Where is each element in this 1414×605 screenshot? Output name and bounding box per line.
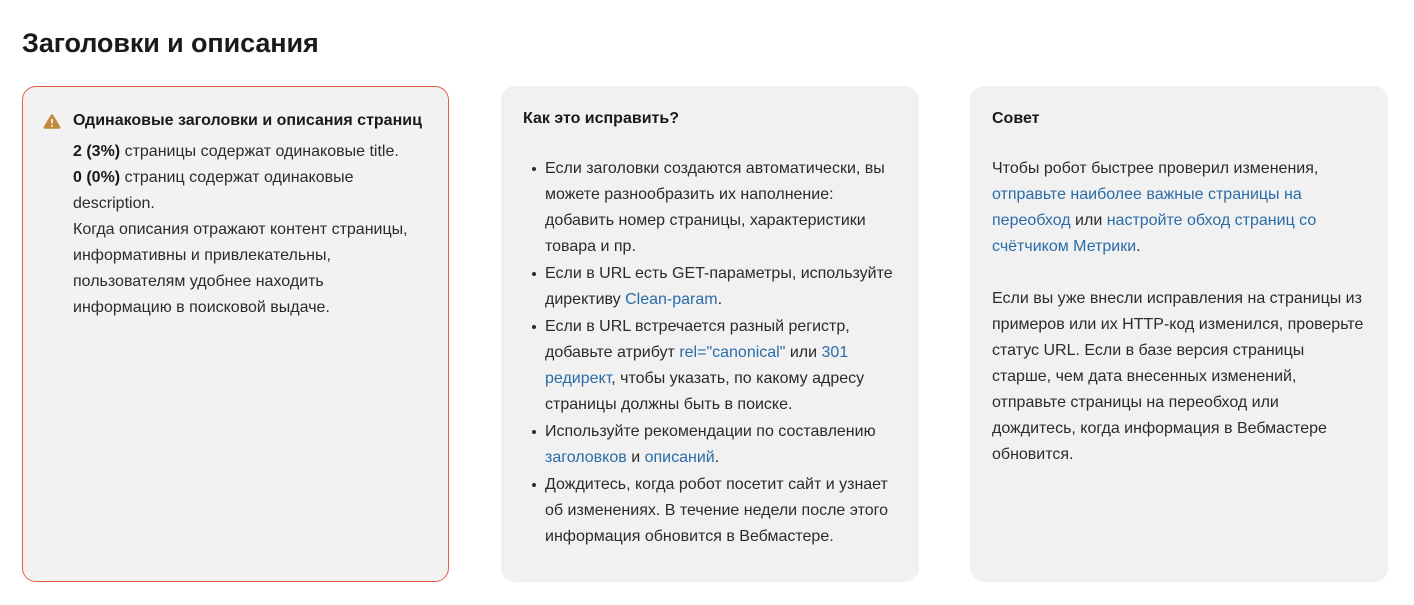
page-root: Заголовки и описания Одинаковые заголовк…	[0, 0, 1414, 605]
tip-paragraph: Если вы уже внесли исправления на страни…	[992, 286, 1364, 468]
inline-text: и	[627, 449, 645, 466]
problem-note: Когда описания отражают контент страницы…	[73, 217, 424, 321]
inline-text: Если вы уже внесли исправления на страни…	[992, 290, 1363, 463]
problem-stat-title: 2 (3%) страницы содержат одинаковые titl…	[73, 139, 424, 165]
fix-list: Если заголовки создаются автоматически, …	[523, 156, 897, 550]
inline-link[interactable]: описаний	[645, 449, 715, 466]
fix-card-heading: Как это исправить?	[523, 108, 897, 130]
problem-stat-description: 0 (0%) страниц содержат одинаковые descr…	[73, 165, 424, 217]
fix-list-item: Если заголовки создаются автоматически, …	[545, 156, 897, 260]
inline-text: или	[1071, 212, 1107, 229]
fix-list-item: Используйте рекомендации по составлению …	[545, 419, 897, 471]
problem-stat-description-value: 0 (0%)	[73, 169, 120, 186]
problem-stat-title-rest: страницы содержат одинаковые title.	[120, 143, 399, 160]
page-title: Заголовки и описания	[22, 26, 319, 60]
fix-list-item: Если в URL встречается разный регистр, д…	[545, 314, 897, 418]
inline-text: Используйте рекомендации по составлению	[545, 423, 876, 440]
inline-link[interactable]: rel="canonical"	[679, 344, 785, 361]
inline-link[interactable]: Clean-param	[625, 291, 717, 308]
fix-list-item: Если в URL есть GET-параметры, используй…	[545, 261, 897, 313]
inline-text: Если заголовки создаются автоматически, …	[545, 160, 885, 255]
problem-card: Одинаковые заголовки и описания страниц …	[22, 86, 449, 582]
problem-card-body: Одинаковые заголовки и описания страниц …	[43, 109, 424, 321]
fix-card: Как это исправить? Если заголовки создаю…	[501, 86, 919, 582]
problem-stat-title-value: 2 (3%)	[73, 143, 120, 160]
tip-paragraph: Чтобы робот быстрее проверил изменения, …	[992, 156, 1364, 260]
problem-card-text: Одинаковые заголовки и описания страниц …	[73, 109, 424, 321]
inline-text: или	[785, 344, 821, 361]
tip-paragraphs: Чтобы робот быстрее проверил изменения, …	[992, 156, 1364, 468]
fix-list-item: Дождитесь, когда робот посетит сайт и уз…	[545, 472, 897, 550]
inline-text: .	[718, 291, 722, 308]
cards-row: Одинаковые заголовки и описания страниц …	[0, 86, 1414, 582]
inline-text: Чтобы робот быстрее проверил изменения,	[992, 160, 1318, 177]
tip-card-heading: Совет	[992, 108, 1364, 130]
tip-card: Совет Чтобы робот быстрее проверил измен…	[970, 86, 1388, 582]
inline-text: .	[715, 449, 719, 466]
inline-text: .	[1136, 238, 1140, 255]
inline-text: Дождитесь, когда робот посетит сайт и уз…	[545, 476, 888, 545]
inline-link[interactable]: заголовков	[545, 449, 627, 466]
problem-heading: Одинаковые заголовки и описания страниц	[73, 109, 424, 133]
warning-triangle-icon	[43, 113, 61, 131]
